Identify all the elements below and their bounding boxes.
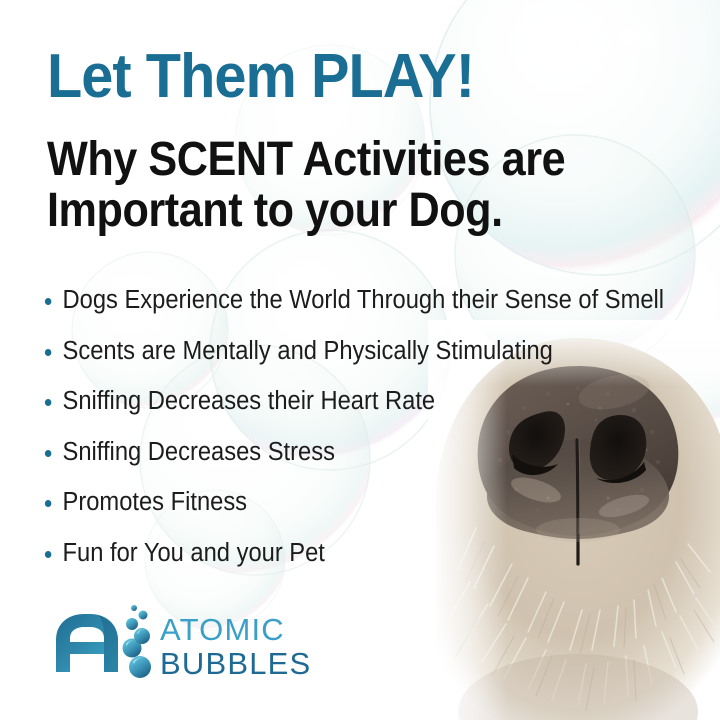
subheading-line-2: Important to your Dog. [47, 185, 659, 236]
brand-logo-svg: ATOMIC BUBBLES [48, 604, 318, 684]
list-item-label: Dogs Experience the World Through their … [63, 286, 665, 314]
subheading: Why SCENT Activities are Important to yo… [47, 134, 659, 236]
bullet-dot-icon [45, 349, 52, 356]
list-item: Sniffing Decreases Stress [43, 438, 657, 466]
logo-bubbles-icon [123, 605, 152, 678]
bullet-dot-icon [45, 399, 52, 406]
list-item-label: Scents are Mentally and Physically Stimu… [63, 337, 553, 365]
bullet-dot-icon [45, 298, 52, 305]
list-item: Promotes Fitness [43, 488, 657, 516]
bullet-dot-icon [45, 450, 52, 457]
bullet-dot-icon [45, 551, 52, 558]
list-item-label: Sniffing Decreases Stress [63, 438, 335, 466]
list-item-label: Fun for You and your Pet [63, 539, 325, 567]
list-item-label: Promotes Fitness [63, 488, 248, 516]
benefits-list: Dogs Experience the World Through their … [43, 286, 703, 589]
logo-a-mark [56, 614, 118, 672]
poster-canvas: Let Them PLAY! Why SCENT Activities are … [0, 0, 720, 720]
bullet-dot-icon [45, 500, 52, 507]
list-item: Fun for You and your Pet [43, 539, 657, 567]
list-item: Sniffing Decreases their Heart Rate [43, 387, 657, 415]
poster-content: Let Them PLAY! Why SCENT Activities are … [0, 0, 720, 720]
list-item: Scents are Mentally and Physically Stimu… [43, 337, 657, 365]
page-title: Let Them PLAY! [47, 46, 474, 108]
logo-wordmark-bubbles: BUBBLES [160, 646, 311, 681]
list-item-label: Sniffing Decreases their Heart Rate [63, 387, 436, 415]
list-item: Dogs Experience the World Through their … [43, 286, 657, 314]
subheading-line-1: Why SCENT Activities are [47, 134, 659, 185]
brand-logo[interactable]: ATOMIC BUBBLES [48, 604, 318, 684]
logo-wordmark-atomic: ATOMIC [160, 612, 285, 647]
